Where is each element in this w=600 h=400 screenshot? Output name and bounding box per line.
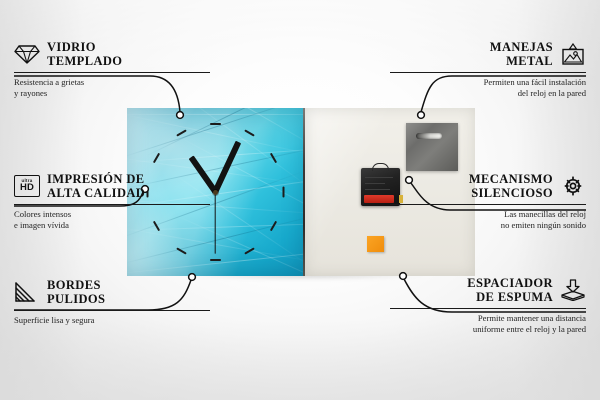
arrow-down-foam-icon (560, 279, 586, 301)
connector-endpoint-manejas (418, 112, 425, 119)
feature-title: IMPRESIÓN DE ALTA CALIDAD (47, 172, 145, 200)
feature-description: Permiten una fácil instalación del reloj… (390, 77, 586, 98)
feature-heading-row: MECANISMO SILENCIOSO (390, 172, 586, 200)
feature-divider (14, 72, 210, 73)
feature-description: Colores intensos e imagen vívida (14, 209, 210, 230)
feature-heading-row: BORDES PULIDOS (14, 278, 210, 306)
feature-title: VIDRIO TEMPLADO (47, 40, 122, 68)
ultra-hd-icon: ultra HD (14, 175, 40, 197)
picture-frame-hanging-icon (560, 43, 586, 65)
feature-manejas-metal: MANEJAS METAL Permiten una fácil instala… (390, 40, 586, 98)
feature-divider (14, 310, 210, 311)
feature-divider (390, 72, 586, 73)
feature-espaciador-de-espuma: ESPACIADOR DE ESPUMA Permite mantener un… (390, 276, 586, 334)
feature-heading-row: ultra HD IMPRESIÓN DE ALTA CALIDAD (14, 172, 210, 200)
feature-title: MECANISMO SILENCIOSO (469, 172, 553, 200)
feature-divider (390, 308, 586, 309)
feature-vidrio-templado: VIDRIO TEMPLADO Resistencia a grietas y … (14, 40, 210, 98)
feature-heading-row: MANEJAS METAL (390, 40, 586, 68)
polished-edge-icon (14, 281, 40, 303)
connector-endpoint-vidrio (177, 112, 184, 119)
diamond-icon (14, 43, 40, 65)
feature-title: MANEJAS METAL (490, 40, 553, 68)
feature-description: Permite mantener una distancia uniforme … (390, 313, 586, 334)
feature-bordes-pulidos: BORDES PULIDOS Superficie lisa y segura (14, 278, 210, 326)
feature-description: Las manecillas del reloj no emiten ningú… (390, 209, 586, 230)
feature-heading-row: ESPACIADOR DE ESPUMA (390, 276, 586, 304)
feature-divider (390, 204, 586, 205)
feature-impresion-alta-calidad: ultra HD IMPRESIÓN DE ALTA CALIDAD Color… (14, 172, 210, 230)
feature-divider (14, 204, 210, 205)
feature-heading-row: VIDRIO TEMPLADO (14, 40, 210, 68)
ultra-hd-icon-main-text: HD (20, 183, 34, 193)
gear-icon (560, 175, 586, 197)
feature-title: ESPACIADOR DE ESPUMA (467, 276, 553, 304)
feature-title: BORDES PULIDOS (47, 278, 105, 306)
feature-mecanismo-silencioso: MECANISMO SILENCIOSO Las manecillas del … (390, 172, 586, 230)
feature-description: Resistencia a grietas y rayones (14, 77, 210, 98)
feature-description: Superficie lisa y segura (14, 315, 210, 326)
